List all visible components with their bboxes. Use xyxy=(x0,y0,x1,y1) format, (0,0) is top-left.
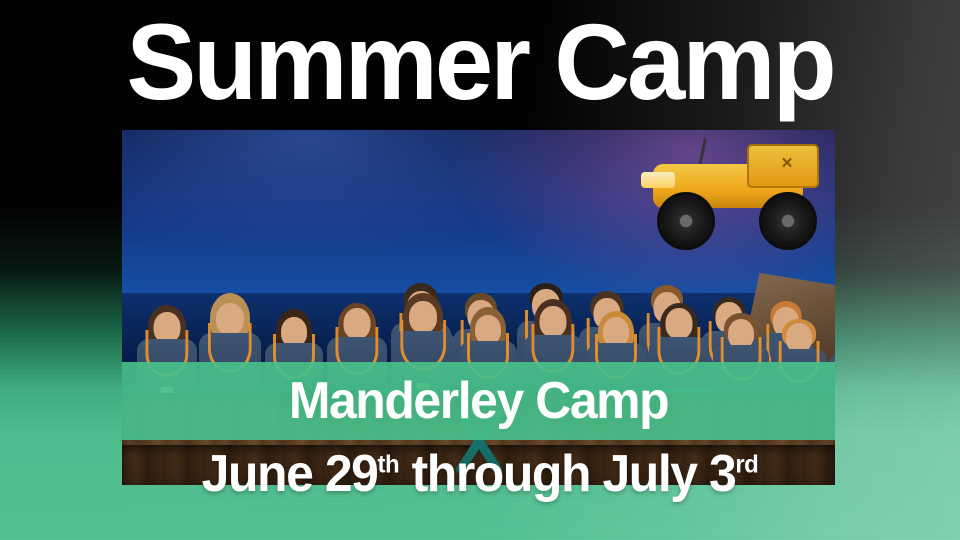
camp-dates-first-ordinal: th xyxy=(377,451,399,479)
summer-camp-poster: Summer Camp ✕ xyxy=(0,0,960,540)
camp-dates-second-ordinal: rd xyxy=(735,451,758,479)
camp-name: Manderley Camp xyxy=(136,362,820,440)
camp-dates-prefix: June 29 xyxy=(202,445,378,503)
camp-dates: June 29th through July 3rd xyxy=(19,444,941,504)
camp-dates-middle: through July 3 xyxy=(399,445,735,503)
page-title: Summer Camp xyxy=(14,6,945,118)
